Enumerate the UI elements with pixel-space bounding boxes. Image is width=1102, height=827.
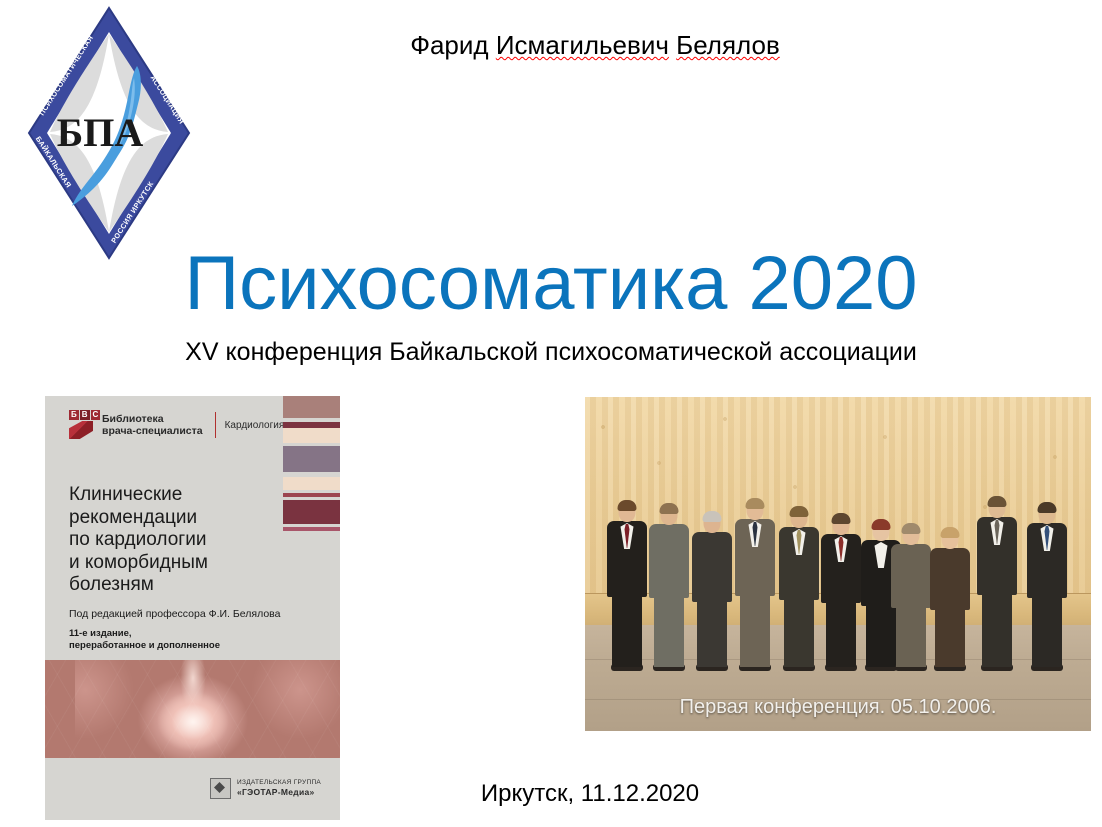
book-title: Клинические рекомендации по кардиологии … (69, 484, 284, 597)
author-patronymic: Исмагильевич (496, 30, 669, 60)
bpa-association-logo: БПА ПСИХОСОМАТИЧЕСКАЯ АССОЦИАЦИЯ БАЙКАЛЬ… (14, 4, 204, 262)
book-title-line: и коморбидным (69, 552, 284, 575)
book-edition-line1: 11-е издание, (69, 628, 220, 640)
book-cover-color-bar (283, 500, 340, 524)
book-publisher-text: ИЗДАТЕЛЬСКАЯ ГРУППА «ГЭОТАР-Медиа» (237, 779, 321, 798)
book-cover-color-bar (283, 527, 340, 531)
book-cover-color-bar (283, 428, 340, 443)
presentation-slide: БПА ПСИХОСОМАТИЧЕСКАЯ АССОЦИАЦИЯ БАЙКАЛЬ… (0, 0, 1102, 827)
person-torso (649, 524, 689, 598)
person-legs (654, 596, 684, 667)
conference-group-photo: Первая конференция. 05.10.2006. (585, 397, 1091, 731)
book-title-line: болезням (69, 574, 284, 597)
photo-person (889, 510, 933, 671)
person-hair (902, 523, 921, 534)
person-legs (826, 601, 856, 667)
photo-person (819, 498, 863, 671)
book-series-divider (215, 412, 216, 438)
book-edition-info: 11-е издание, переработанное и дополненн… (69, 628, 220, 652)
person-hair (832, 513, 851, 524)
person-hair (618, 500, 637, 511)
author-surname: Белялов (676, 30, 780, 60)
slide-subtitle: XV конференция Байкальской психосоматиче… (0, 338, 1102, 367)
publisher-line2: «ГЭОТАР-Медиа» (237, 787, 315, 797)
slide-title: Психосоматика 2020 (0, 240, 1102, 327)
bvs-letter-2: В (80, 410, 90, 420)
slide-footer-location-date: Иркутск, 11.12.2020 (330, 780, 850, 808)
book-title-line: Клинические (69, 484, 284, 507)
book-series-name-line2: врача-специалиста (102, 425, 203, 438)
author-first-name: Фарид (410, 30, 496, 60)
book-editor-credit: Под редакцией профессора Ф.И. Белялова (69, 608, 280, 620)
photo-caption: Первая конференция. 05.10.2006. (585, 696, 1091, 719)
person-torso (891, 544, 931, 608)
person-legs (1032, 596, 1062, 667)
bvs-emblem-icon: Б В С (69, 410, 95, 440)
person-hair (746, 498, 765, 509)
photo-person (975, 475, 1019, 671)
book-publisher: ИЗДАТЕЛЬСКАЯ ГРУППА «ГЭОТАР-Медиа» (210, 778, 321, 799)
book-edition-line2: переработанное и дополненное (69, 640, 220, 652)
photo-person (690, 495, 734, 671)
book-cover-color-bar (283, 477, 340, 490)
book-title-line: по кардиологии (69, 529, 284, 552)
photo-person (605, 481, 649, 671)
person-hair (703, 511, 722, 522)
book-cover-color-bars (283, 396, 340, 531)
book-cover-anatomy-illustration (45, 660, 340, 758)
photo-person (647, 485, 691, 671)
person-legs (935, 608, 965, 667)
author-name: Фарид Исмагильевич Белялов (205, 30, 985, 61)
photo-person (1025, 483, 1069, 671)
bvs-slash-shape (69, 421, 93, 439)
photo-person (777, 489, 821, 671)
person-hair (1038, 502, 1057, 513)
logo-center-text: БПА (57, 110, 144, 155)
book-cover-color-bar (283, 396, 340, 418)
person-legs (982, 593, 1012, 667)
book-title-line: рекомендации (69, 507, 284, 530)
person-legs (612, 595, 642, 667)
book-series-name-line1: Библиотека (102, 413, 203, 426)
geotar-publisher-icon (210, 778, 231, 799)
photo-person (733, 478, 777, 671)
book-cover-image: Б В С Библиотека врача-специалиста Карди… (45, 396, 340, 820)
book-series-logo: Б В С Библиотека врача-специалиста Карди… (69, 410, 284, 440)
person-torso (930, 548, 970, 610)
bvs-letter-1: Б (69, 410, 79, 420)
anatomy-hex-pattern (45, 660, 340, 758)
person-torso (692, 532, 732, 602)
person-legs (740, 594, 770, 667)
book-cover-color-bar (283, 446, 340, 472)
person-hair (660, 503, 679, 514)
person-hair (790, 506, 809, 517)
person-legs (784, 598, 814, 667)
person-legs (697, 600, 727, 667)
person-hair (988, 496, 1007, 507)
bvs-letter-3: С (91, 410, 101, 420)
person-legs (896, 606, 926, 667)
photo-person (928, 516, 972, 671)
person-hair (872, 519, 891, 530)
book-category: Кардиология (225, 420, 285, 431)
book-series-name: Библиотека врача-специалиста (102, 413, 203, 438)
person-hair (941, 527, 960, 538)
